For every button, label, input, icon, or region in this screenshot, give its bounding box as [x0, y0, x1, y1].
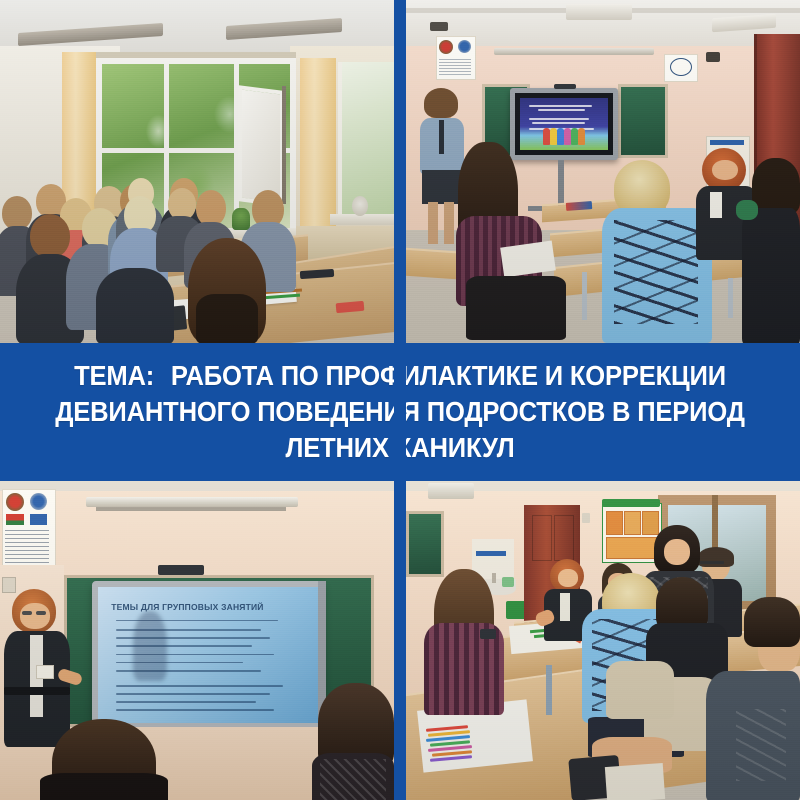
- photo-top-right: [406, 0, 800, 343]
- title-line-1: РАБОТА ПО ПРОФИЛАКТИКЕ И КОРРЕКЦИИ: [171, 360, 726, 391]
- poster-root: ТЕМА:РАБОТА ПО ПРОФИЛАКТИКЕ И КОРРЕКЦИИ …: [0, 0, 800, 800]
- photo-top-left: [0, 0, 394, 343]
- photo-bottom-left: ТЕМЫ ДЛЯ ГРУППОВЫХ ЗАНЯТИЙ: [0, 481, 394, 800]
- photo-bottom-left-scene: ТЕМЫ ДЛЯ ГРУППОВЫХ ЗАНЯТИЙ: [0, 481, 394, 800]
- vertical-gutter: [394, 0, 406, 800]
- photo-bottom-right: [406, 481, 800, 800]
- title-label: ТЕМА:: [74, 360, 154, 391]
- photo-top-right-scene: [406, 0, 800, 343]
- smartboard-slide-title: ТЕМЫ ДЛЯ ГРУППОВЫХ ЗАНЯТИЙ: [111, 602, 307, 612]
- photo-bottom-right-scene: [406, 481, 800, 800]
- photo-top-left-scene: [0, 0, 394, 343]
